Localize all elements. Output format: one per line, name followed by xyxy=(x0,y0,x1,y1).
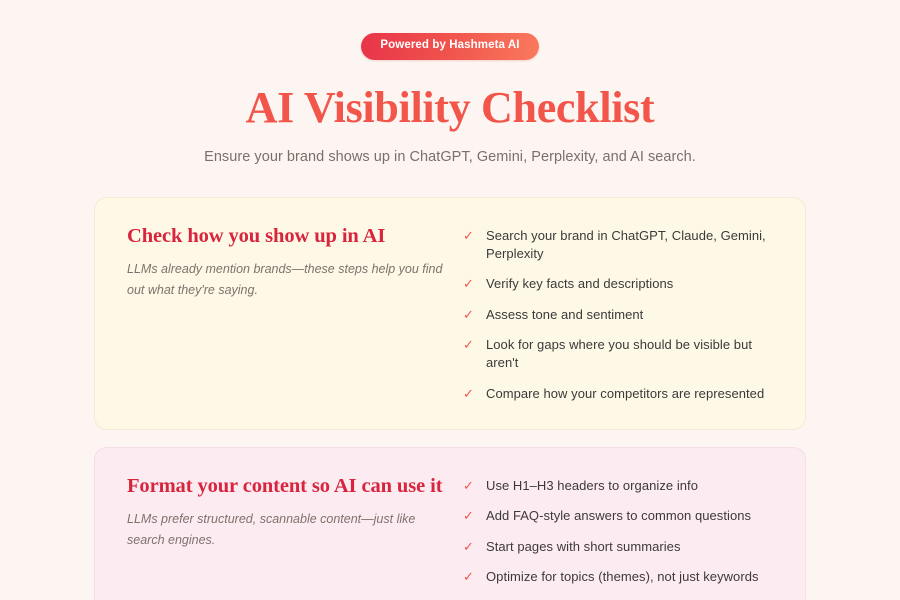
list-item[interactable]: ✓ Optimize for topics (themes), not just… xyxy=(463,568,777,586)
list-item[interactable]: ✓ Search your brand in ChatGPT, Claude, … xyxy=(463,227,777,263)
card-text-column: Check how you show up in AI LLMs already… xyxy=(111,224,463,301)
check-icon: ✓ xyxy=(463,385,479,403)
list-item-label: Add FAQ-style answers to common question… xyxy=(486,507,751,525)
checklist-card-check-how-you-show-up: Check how you show up in AI LLMs already… xyxy=(94,197,806,430)
list-item-label: Start pages with short summaries xyxy=(486,538,681,556)
list-item-label: Optimize for topics (themes), not just k… xyxy=(486,568,759,586)
card-description: LLMs prefer structured, scannable conten… xyxy=(127,509,447,550)
list-item[interactable]: ✓ Add FAQ-style answers to common questi… xyxy=(463,507,777,525)
checklist-card-format-your-content: Format your content so AI can use it LLM… xyxy=(94,447,806,600)
card-heading: Format your content so AI can use it xyxy=(127,474,447,499)
page-subtitle: Ensure your brand shows up in ChatGPT, G… xyxy=(0,149,900,165)
checklist-page: Powered by Hashmeta AI AI Visibility Che… xyxy=(0,0,900,600)
powered-by-badge: Powered by Hashmeta AI xyxy=(361,33,538,60)
list-item[interactable]: ✓ Use H1–H3 headers to organize info xyxy=(463,477,777,495)
check-icon: ✓ xyxy=(463,477,479,495)
check-icon: ✓ xyxy=(463,336,479,354)
page-title: AI Visibility Checklist xyxy=(0,85,900,131)
list-item-label: Verify key facts and descriptions xyxy=(486,275,673,293)
card-heading: Check how you show up in AI xyxy=(127,224,447,249)
check-icon: ✓ xyxy=(463,507,479,525)
check-icon: ✓ xyxy=(463,538,479,556)
check-icon: ✓ xyxy=(463,275,479,293)
page-header: Powered by Hashmeta AI AI Visibility Che… xyxy=(0,0,900,165)
card-checklist-column: ✓ Search your brand in ChatGPT, Claude, … xyxy=(463,224,777,403)
check-icon: ✓ xyxy=(463,568,479,586)
check-icon: ✓ xyxy=(463,306,479,324)
card-text-column: Format your content so AI can use it LLM… xyxy=(111,474,463,551)
check-icon: ✓ xyxy=(463,227,479,245)
list-item-label: Search your brand in ChatGPT, Claude, Ge… xyxy=(486,227,777,263)
checklist-card-list: Check how you show up in AI LLMs already… xyxy=(0,197,900,600)
list-item[interactable]: ✓ Start pages with short summaries xyxy=(463,538,777,556)
card-checklist-column: ✓ Use H1–H3 headers to organize info ✓ A… xyxy=(463,474,777,600)
list-item-label: Compare how your competitors are represe… xyxy=(486,385,764,403)
list-item[interactable]: ✓ Verify key facts and descriptions xyxy=(463,275,777,293)
list-item[interactable]: ✓ Compare how your competitors are repre… xyxy=(463,385,777,403)
list-item[interactable]: ✓ Look for gaps where you should be visi… xyxy=(463,336,777,372)
list-item[interactable]: ✓ Assess tone and sentiment xyxy=(463,306,777,324)
list-item-label: Assess tone and sentiment xyxy=(486,306,643,324)
card-description: LLMs already mention brands—these steps … xyxy=(127,259,447,300)
list-item-label: Look for gaps where you should be visibl… xyxy=(486,336,777,372)
list-item-label: Use H1–H3 headers to organize info xyxy=(486,477,698,495)
